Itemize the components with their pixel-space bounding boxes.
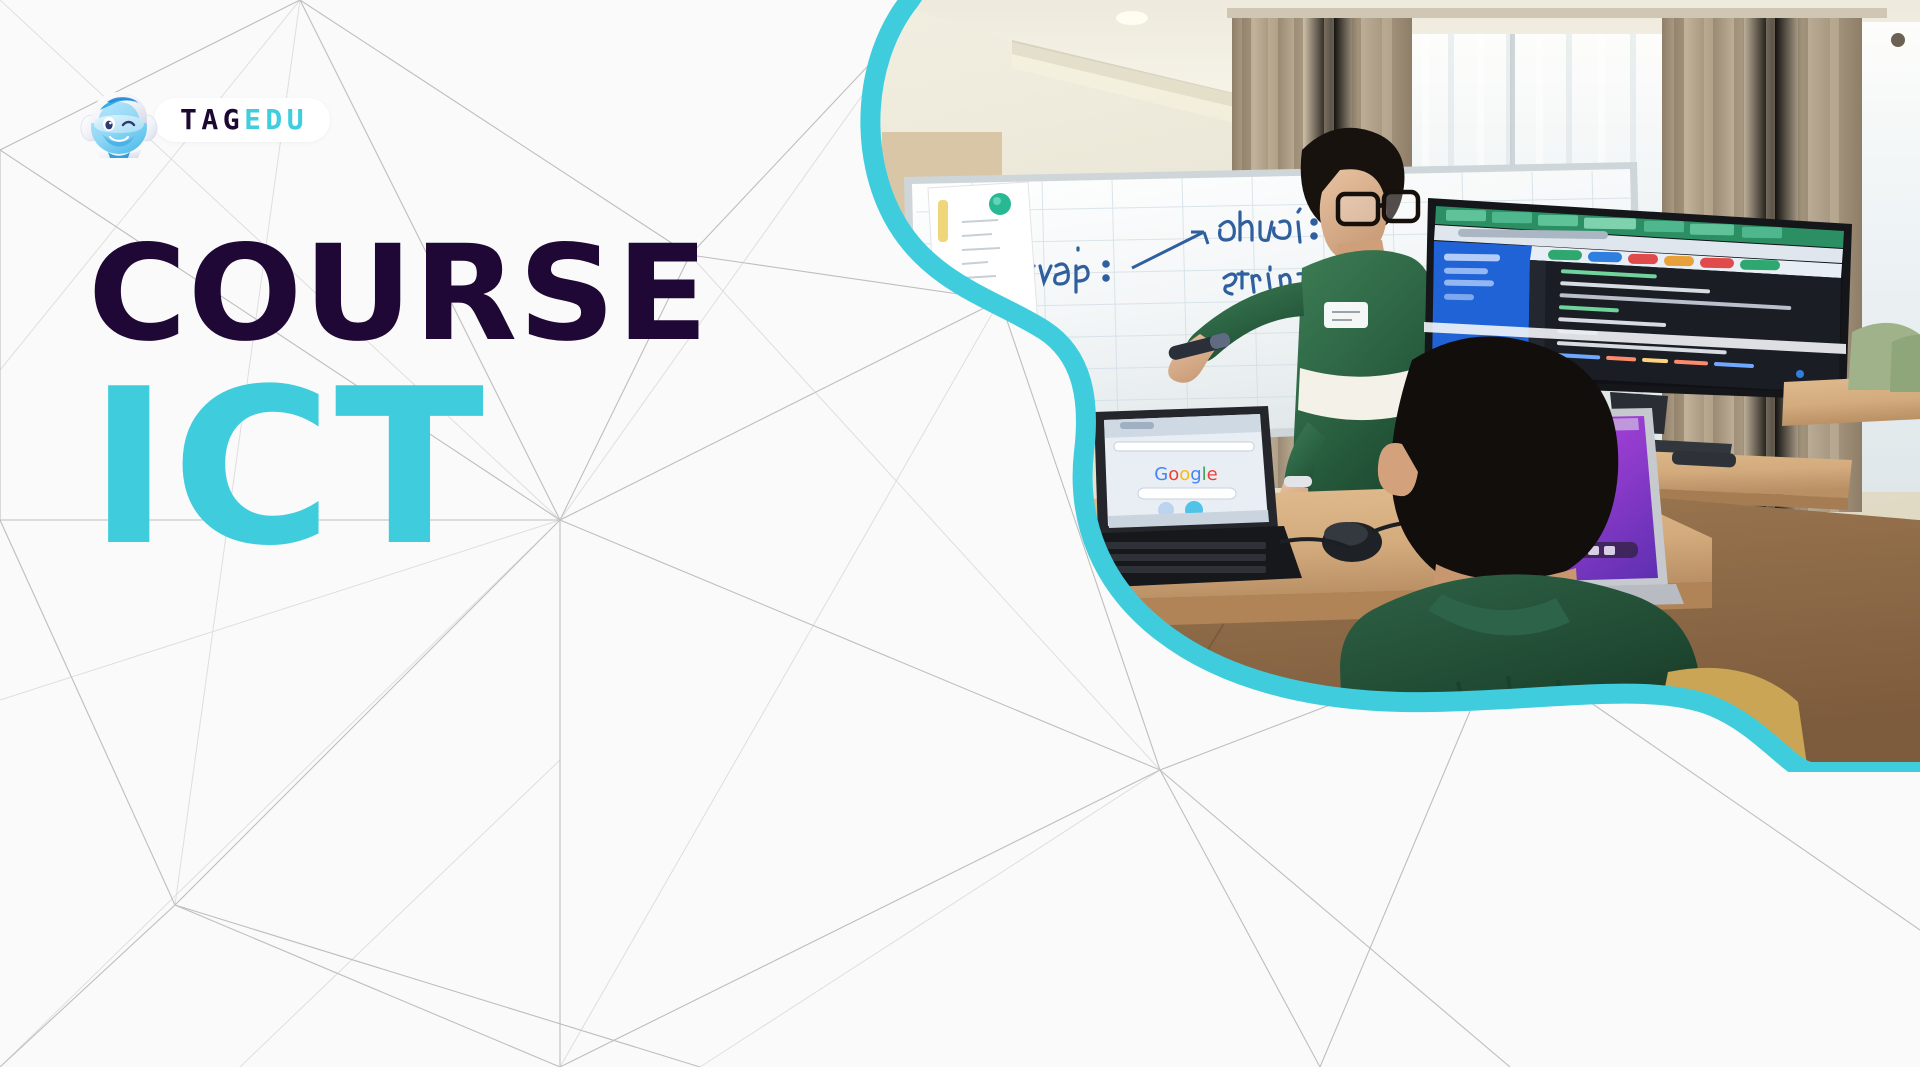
brand-logo-lockup[interactable]: TAG EDU: [78, 82, 330, 158]
headline-block: COURSE ICT: [88, 238, 697, 560]
wordmark-tag: TAG: [180, 106, 244, 134]
page-title-ict: ICT: [88, 376, 709, 561]
photo-content: Google: [832, 0, 1920, 772]
brand-wordmark-pill[interactable]: TAG EDU: [154, 98, 330, 142]
wordmark-edu: EDU: [244, 106, 308, 134]
banner-canvas: TAG EDU COURSE ICT: [0, 0, 1920, 1067]
classroom-photo: Google: [832, 0, 1920, 772]
page-title-course: COURSE: [88, 238, 709, 352]
tagedu-mascot-icon: [78, 82, 160, 158]
svg-text:Google: Google: [1154, 464, 1218, 485]
laptop-left-google: Google: [1080, 406, 1302, 588]
